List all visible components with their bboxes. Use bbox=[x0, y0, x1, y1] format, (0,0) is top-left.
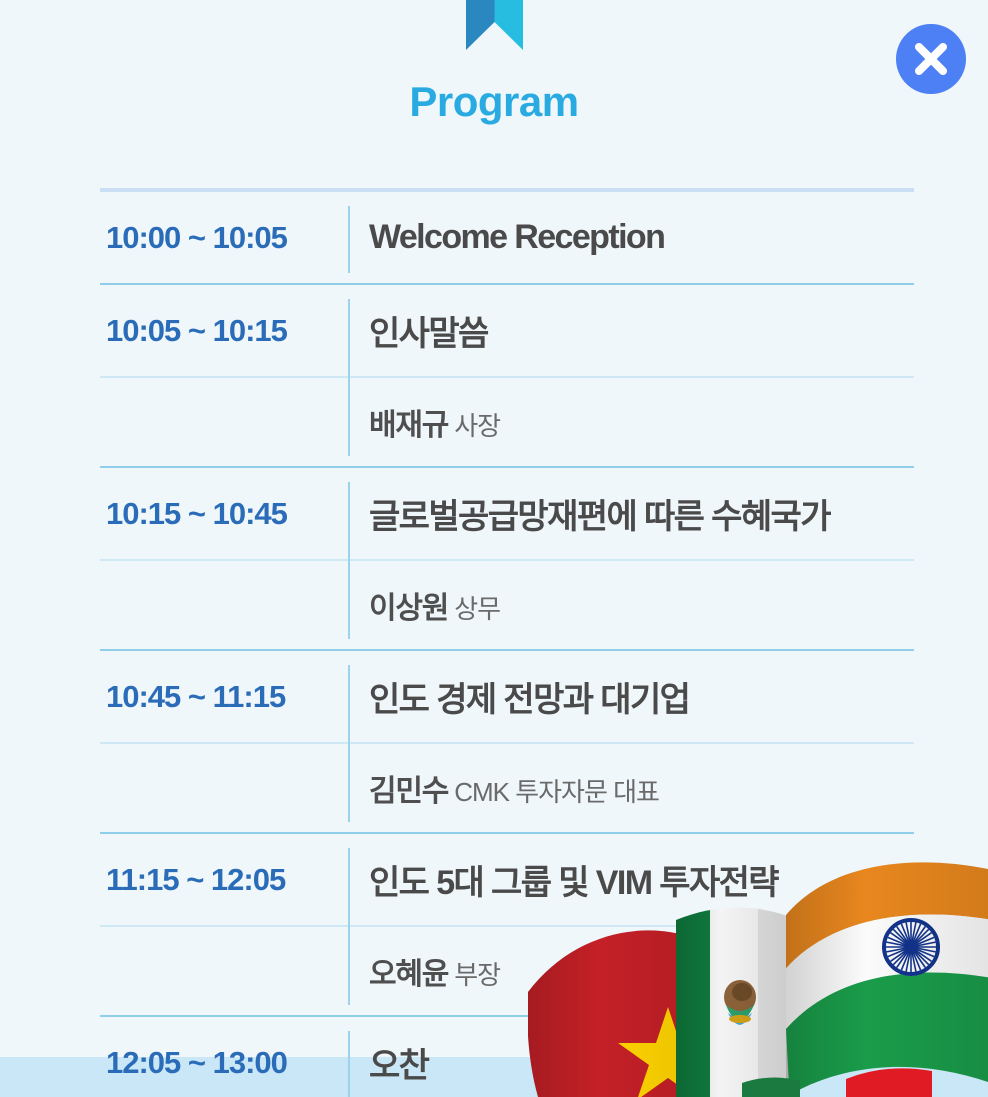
session-title: 오찬 bbox=[369, 1047, 428, 1085]
close-button[interactable] bbox=[896, 24, 966, 94]
session-speaker-line: 이상원상무 bbox=[100, 561, 914, 649]
table-row: 10:15 ~ 10:45 글로벌공급망재편에 따른 수혜국가 이상원상무 bbox=[100, 468, 914, 651]
logo-mark bbox=[0, 0, 988, 55]
table-row: 10:45 ~ 11:15 인도 경제 전망과 대기업 김민수CMK 투자자문 … bbox=[100, 651, 914, 834]
session-title-line: 10:05 ~ 10:15 인사말씀 bbox=[100, 285, 914, 376]
speaker-name: 이상원 bbox=[369, 592, 448, 625]
session-title: 인사말씀 bbox=[369, 315, 488, 353]
table-row: 11:15 ~ 12:05 인도 5대 그룹 및 VIM 투자전략 오혜윤부장 bbox=[100, 834, 914, 1017]
speaker-name: 김민수 bbox=[369, 775, 448, 808]
session-time: 12:05 ~ 13:00 bbox=[100, 1045, 348, 1081]
session-time: 10:45 ~ 11:15 bbox=[100, 679, 348, 715]
table-row: 10:00 ~ 10:05 Welcome Reception bbox=[100, 192, 914, 285]
page-title: Program bbox=[0, 78, 988, 126]
session-speaker-line: 배재규사장 bbox=[100, 378, 914, 466]
session-time: 10:05 ~ 10:15 bbox=[100, 313, 348, 349]
speaker-role: 사장 bbox=[454, 411, 500, 441]
session-title-line: 10:45 ~ 11:15 인도 경제 전망과 대기업 bbox=[100, 651, 914, 742]
bookmark-icon bbox=[466, 0, 523, 50]
close-icon bbox=[896, 24, 966, 94]
session-title-line: 10:15 ~ 10:45 글로벌공급망재편에 따른 수혜국가 bbox=[100, 468, 914, 559]
speaker-name: 배재규 bbox=[369, 409, 448, 442]
session-time: 10:15 ~ 10:45 bbox=[100, 496, 348, 532]
session-time: 10:00 ~ 10:05 bbox=[100, 220, 348, 256]
session-title: Welcome Reception bbox=[369, 218, 664, 256]
speaker-role: 상무 bbox=[454, 594, 500, 624]
table-row: 12:05 ~ 13:00 오찬 bbox=[100, 1017, 914, 1097]
session-title: 글로벌공급망재편에 따른 수혜국가 bbox=[369, 498, 830, 536]
speaker-name: 오혜윤 bbox=[369, 958, 448, 991]
session-title: 인도 경제 전망과 대기업 bbox=[369, 681, 689, 719]
session-title-line: 12:05 ~ 13:00 오찬 bbox=[100, 1017, 914, 1097]
session-speaker-line: 오혜윤부장 bbox=[100, 927, 914, 1015]
session-title-line: 10:00 ~ 10:05 Welcome Reception bbox=[100, 192, 914, 283]
program-table: 10:00 ~ 10:05 Welcome Reception 10:05 ~ … bbox=[100, 188, 914, 1097]
session-title-line: 11:15 ~ 12:05 인도 5대 그룹 및 VIM 투자전략 bbox=[100, 834, 914, 925]
table-row: 10:05 ~ 10:15 인사말씀 배재규사장 bbox=[100, 285, 914, 468]
session-time: 11:15 ~ 12:05 bbox=[100, 862, 348, 898]
speaker-role: 부장 bbox=[454, 960, 500, 990]
session-title: 인도 5대 그룹 및 VIM 투자전략 bbox=[369, 864, 778, 902]
speaker-role: CMK 투자자문 대표 bbox=[454, 777, 659, 807]
session-speaker-line: 김민수CMK 투자자문 대표 bbox=[100, 744, 914, 832]
